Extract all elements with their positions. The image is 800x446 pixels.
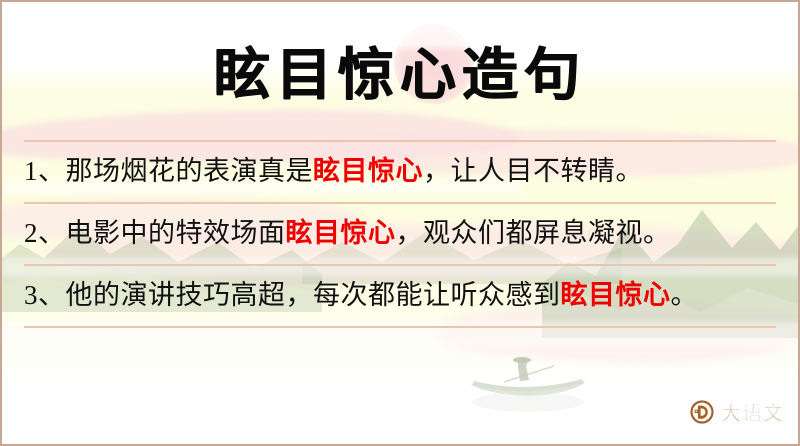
list-item: 1、那场烟花的表演真是眩目惊心，让人目不转睛。 xyxy=(2,142,798,202)
sentence-text: 3、他的演讲技巧高超，每次都能让听众感到眩目惊心。 xyxy=(24,277,698,313)
brand-logo: 大语文 xyxy=(690,397,784,426)
slide-canvas: 眩目惊心造句 1、那场烟花的表演真是眩目惊心，让人目不转睛。 2、电影中的特效场… xyxy=(0,0,800,446)
keyword-highlight: 眩目惊心 xyxy=(313,156,423,186)
page-title: 眩目惊心造句 xyxy=(214,46,586,105)
title-area: 眩目惊心造句 xyxy=(2,46,798,105)
fisherman-boat-icon xyxy=(458,354,598,418)
sentence-after: ，观众们都屏息凝视。 xyxy=(396,218,671,248)
brand-emblem-icon xyxy=(690,400,714,424)
sentence-before: 他的演讲技巧高超，每次都能让听众感到 xyxy=(66,280,561,310)
list-item: 2、电影中的特效场面眩目惊心，观众们都屏息凝视。 xyxy=(2,204,798,264)
sentence-text: 1、那场烟花的表演真是眩目惊心，让人目不转睛。 xyxy=(24,153,643,189)
divider-line xyxy=(24,326,776,328)
list-item: 3、他的演讲技巧高超，每次都能让听众感到眩目惊心。 xyxy=(2,266,798,326)
keyword-highlight: 眩目惊心 xyxy=(286,218,396,248)
sentence-after: 。 xyxy=(671,280,699,310)
sentence-index: 1、 xyxy=(24,156,66,186)
brand-name: 大语文 xyxy=(721,397,784,426)
sentence-index: 3、 xyxy=(24,280,66,310)
sentence-after: ，让人目不转睛。 xyxy=(423,156,643,186)
sentence-list: 1、那场烟花的表演真是眩目惊心，让人目不转睛。 2、电影中的特效场面眩目惊心，观… xyxy=(2,140,798,328)
mist-strip xyxy=(2,386,800,446)
sentence-before: 那场烟花的表演真是 xyxy=(66,156,314,186)
keyword-highlight: 眩目惊心 xyxy=(561,280,671,310)
sentence-text: 2、电影中的特效场面眩目惊心，观众们都屏息凝视。 xyxy=(24,215,671,251)
sentence-index: 2、 xyxy=(24,218,66,248)
sentence-before: 电影中的特效场面 xyxy=(66,218,286,248)
